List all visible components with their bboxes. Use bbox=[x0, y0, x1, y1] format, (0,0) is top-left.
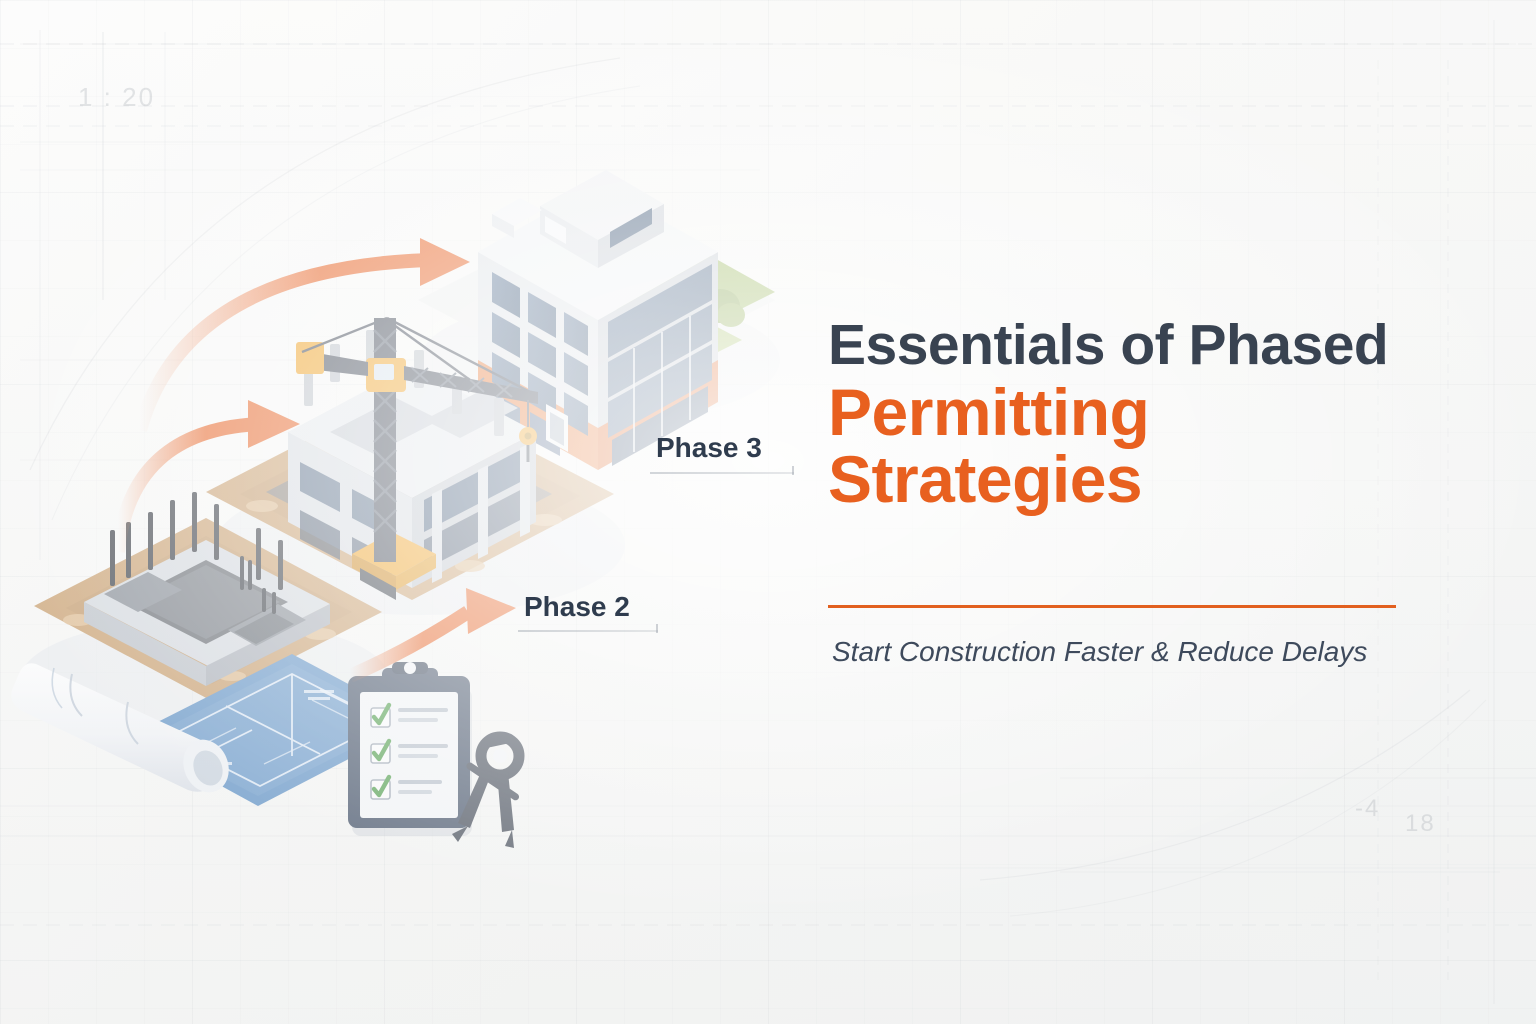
dimension-annotation-neg4: -4 bbox=[1355, 795, 1380, 823]
title-line-1: Essentials of Phased bbox=[828, 318, 1408, 374]
title-divider-rule bbox=[828, 605, 1396, 608]
title-line-3: Strategies bbox=[828, 447, 1408, 512]
phase-3-label: Phase 3 bbox=[656, 432, 762, 464]
phase-2-leader-tick bbox=[656, 624, 658, 633]
dimension-annotation-18: 18 bbox=[1405, 810, 1436, 838]
title-block: Essentials of Phased Permitting Strategi… bbox=[828, 318, 1408, 511]
phase-3-leader-line bbox=[650, 472, 794, 474]
hero-graphic-canvas: Phase 3 Phase 2 Essentials of Phased Per… bbox=[0, 0, 1536, 1024]
phase-3-leader-tick bbox=[792, 466, 794, 475]
subtitle: Start Construction Faster & Reduce Delay… bbox=[832, 636, 1367, 668]
phase-2-label: Phase 2 bbox=[524, 591, 630, 623]
scale-annotation: 1 : 20 bbox=[78, 82, 155, 113]
phase-2-leader-line bbox=[518, 630, 658, 632]
title-line-2: Permitting bbox=[828, 380, 1408, 445]
vignette-overlay bbox=[0, 0, 1536, 1024]
